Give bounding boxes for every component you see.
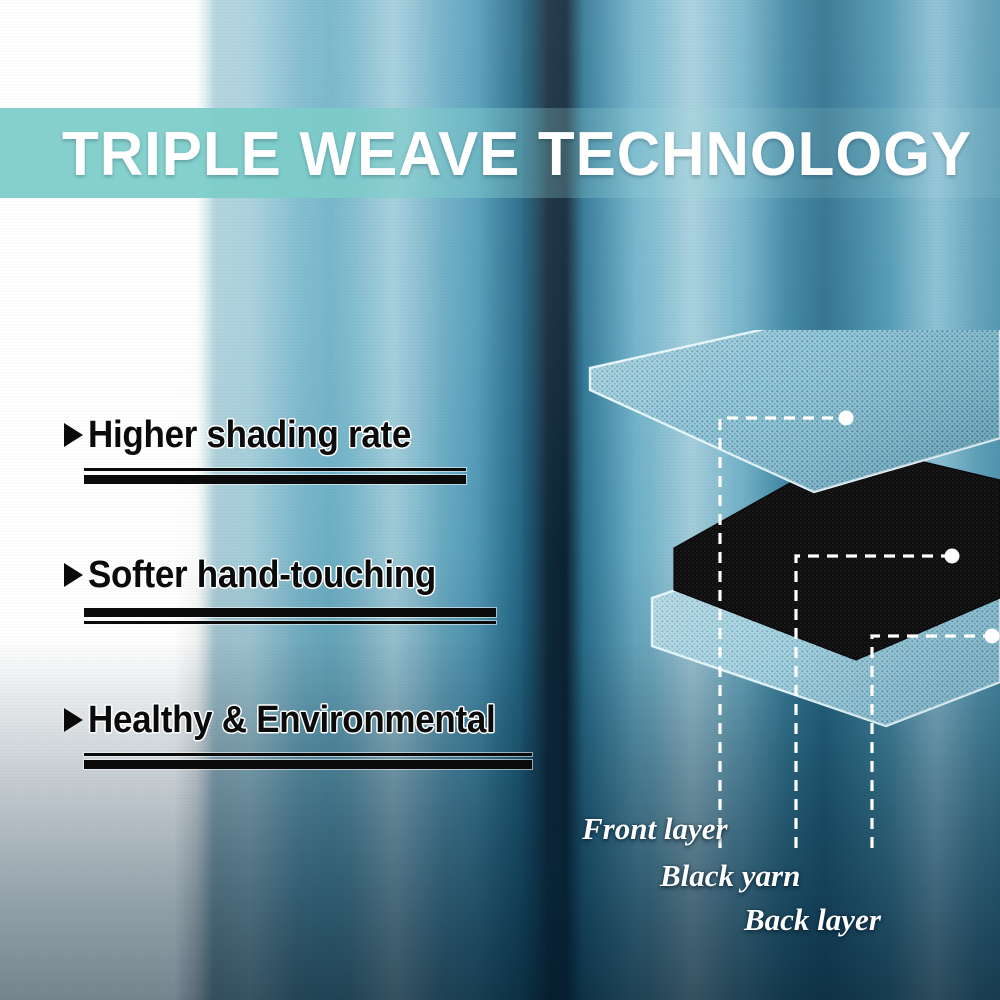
triangle-bullet-icon (64, 708, 83, 732)
feature-label-2: Softer hand-touching (88, 552, 436, 598)
feature-rule-thick-2 (84, 608, 496, 617)
product-infographic: TRIPLE WEAVE TECHNOLOGY Higher shading r… (0, 0, 1000, 1000)
feature-rule-thin-2 (84, 621, 496, 624)
callout-dot-back (985, 629, 1000, 644)
triangle-bullet-icon (64, 563, 83, 587)
feature-rule-thick-1 (84, 475, 466, 484)
feature-rule-thick-3 (84, 760, 532, 769)
page-title: TRIPLE WEAVE TECHNOLOGY (62, 116, 954, 194)
layer-label-back: Back layer (744, 903, 881, 937)
callout-dot-black (945, 549, 960, 564)
triple-weave-layer-diagram (556, 330, 1000, 850)
triangle-bullet-icon (64, 423, 83, 447)
feature-label-1: Higher shading rate (88, 412, 411, 458)
feature-item-3: Healthy & Environmental (64, 697, 534, 769)
layer-label-black: Black yarn (660, 859, 800, 893)
feature-item-2: Softer hand-touching (64, 552, 496, 624)
layer-label-front: Front layer (582, 812, 728, 846)
feature-label-3: Healthy & Environmental (88, 697, 495, 743)
callout-dot-front (839, 411, 854, 426)
feature-item-1: Higher shading rate (64, 412, 468, 484)
